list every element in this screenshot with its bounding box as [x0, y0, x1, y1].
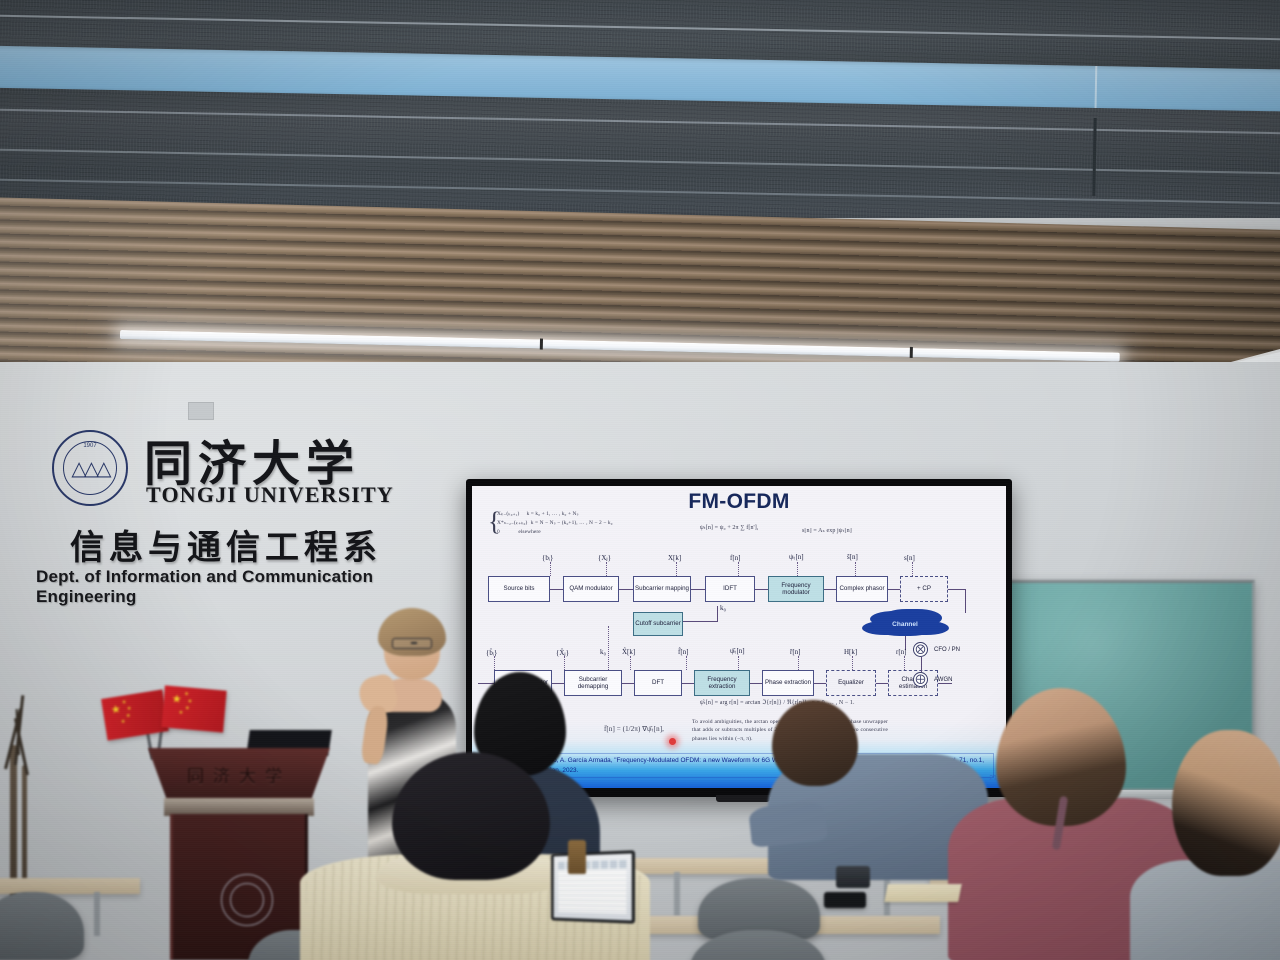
department-chinese-name: 信息与通信工程系: [70, 520, 382, 569]
equation-signal: s[n] = Aₛ exp jψₜ[n]: [802, 527, 852, 536]
cfo-pn-mixer-icon: ⨂: [913, 642, 928, 657]
rx-block-frequency-extraction: Frequency extraction: [694, 670, 750, 696]
piecewise-row-2: X*ₙ₋₂₋(ₖ₊ₖ₀) k = N − Nₛ − (k₀+1), … , N …: [497, 520, 613, 528]
label-rx-Hk: H[k]: [844, 648, 857, 656]
piecewise-row-1: Xₖ₋(ₖ₀₊₁) k = k₀ + 1, … , k₀ + Nₛ: [497, 511, 579, 519]
label-awgn: AWGN: [934, 677, 952, 683]
rx-block-dft: DFT: [634, 670, 682, 696]
notebook-papers: [884, 884, 961, 902]
awgn-adder-icon: ⨁: [913, 672, 928, 687]
display-stand: [716, 795, 770, 802]
glasses-bridge: [411, 642, 417, 644]
label-tx-Xk: X[k]: [668, 554, 681, 562]
laser-pointer-dot: [669, 738, 676, 745]
label-tx-s: s[n]: [904, 554, 915, 562]
channel-cloud: Channel: [872, 612, 938, 636]
label-cfo-pn: CFO / PN: [934, 647, 960, 653]
mobile-phone: [824, 892, 866, 908]
cream-sweater-hair: [392, 752, 550, 880]
label-cutoff-k0: k₀: [720, 604, 726, 612]
equation-frequency-estimate: f̂[n] = (1/2π) ∇ψ̂ₜ[n],: [604, 724, 664, 734]
label-rx-rn: r[n]: [896, 648, 907, 656]
lecture-hall-photo: 1907 △△△ 同济大学 TONGJI UNIVERSITY 信息与通信工程系…: [0, 0, 1280, 960]
university-english-name: TONGJI UNIVERSITY: [146, 482, 394, 508]
china-flag-right: ★ ★ ★ ★ ★: [161, 685, 226, 732]
rx-block-equalizer: Equalizer: [826, 670, 876, 696]
label-tx-stilde: s̃[n]: [847, 553, 858, 561]
laptop: [548, 852, 634, 922]
label-rx-rtilde: ř[n]: [790, 648, 801, 656]
label-rx-Xk: X̂[k]: [622, 648, 635, 656]
tx-block-idft: IDFT: [705, 576, 755, 602]
right-edge-head: [1172, 730, 1280, 876]
wall-access-panel: [188, 402, 214, 420]
label-tx-symbols: {Xⱼ}: [598, 554, 611, 562]
label-rx-fn: f̂[n]: [678, 648, 689, 656]
right-edge-torso: [1130, 860, 1280, 960]
piecewise-row-3: 0 elsewhere: [497, 529, 541, 537]
blue-shirt-hair: [772, 700, 858, 786]
rx-block-phase-extraction: Phase extraction: [762, 670, 814, 696]
equation-phase: ψₜ[n] = ψ₀ + 2π ∑ f[n'],: [700, 524, 758, 533]
label-rx-psi: ψ̂ₜ[n]: [730, 647, 745, 655]
desk-accessory-box: [836, 866, 870, 888]
tx-block-qam-modulator: QAM modulator: [563, 576, 619, 602]
tx-block-cutoff-subcarrier: Cutoff subcarrier: [633, 612, 683, 636]
podium-seal-icon: [221, 874, 273, 926]
tx-block-complex-phasor: Complex phasor: [836, 576, 888, 602]
water-bottle: [568, 840, 586, 874]
tongji-wall-sign: 1907 △△△ 同济大学 TONGJI UNIVERSITY 信息与通信工程系…: [36, 424, 428, 596]
department-english-name: Dept. of Information and Communication E…: [36, 567, 428, 607]
label-tx-psi: ψₜ[n]: [789, 553, 804, 561]
tongji-crest-icon: 1907 △△△: [52, 430, 128, 506]
tx-block-add-cp: + CP: [900, 576, 948, 602]
tx-block-frequency-modulator: Frequency modulator: [768, 576, 824, 602]
label-rx-symbols: {X̂ⱼ}: [556, 649, 569, 657]
person-attendee-right-edge: [1150, 730, 1280, 960]
ceiling-acoustic-panels: [0, 0, 1280, 218]
crest-year: 1907: [64, 443, 116, 449]
tx-block-subcarrier-mapping: Subcarrier mapping: [633, 576, 691, 602]
label-tx-bits: {bᵢ}: [542, 554, 553, 562]
label-tx-fn: f[n]: [730, 554, 741, 562]
blue-shirt-arm: [748, 800, 828, 848]
tx-block-source-bits: Source bits: [488, 576, 550, 602]
label-rx-k0: k₀: [600, 648, 606, 656]
